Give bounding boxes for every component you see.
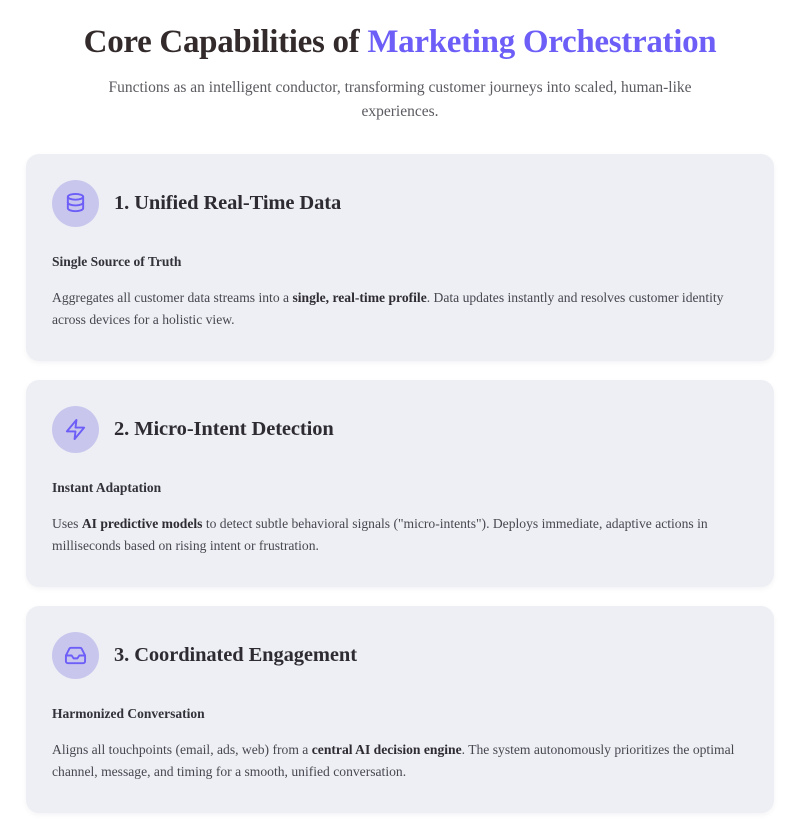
card-description: Aggregates all customer data streams int… [52,287,748,331]
card-subheading: Single Source of Truth [52,254,748,270]
page-header: Core Capabilities of Marketing Orchestra… [0,0,800,124]
page-subtitle: Functions as an intelligent conductor, t… [80,76,720,124]
card-description-part1: Aligns all touchpoints (email, ads, web)… [52,742,312,757]
card-description-part1: Uses [52,516,82,531]
card-description: Aligns all touchpoints (email, ads, web)… [52,739,748,783]
capability-card[interactable]: 1. Unified Real-Time Data Single Source … [26,154,774,361]
card-header: 1. Unified Real-Time Data [52,180,748,227]
card-description-emphasis: AI predictive models [82,516,203,531]
page-title: Core Capabilities of Marketing Orchestra… [30,22,770,62]
card-title: 3. Coordinated Engagement [114,644,357,667]
capability-card[interactable]: 2. Micro-Intent Detection Instant Adapta… [26,380,774,587]
card-header: 2. Micro-Intent Detection [52,406,748,453]
card-subheading: Harmonized Conversation [52,706,748,722]
inbox-tray-icon [52,632,99,679]
card-description-emphasis: central AI decision engine [312,742,462,757]
page-title-accent: Marketing Orchestration [367,24,716,60]
card-title: 1. Unified Real-Time Data [114,192,341,215]
card-header: 3. Coordinated Engagement [52,632,748,679]
page-title-lead: Core Capabilities of [84,24,368,60]
card-title: 2. Micro-Intent Detection [114,418,334,441]
database-stack-icon [52,180,99,227]
capability-card[interactable]: 3. Coordinated Engagement Harmonized Con… [26,606,774,813]
card-description-part1: Aggregates all customer data streams int… [52,290,292,305]
card-description-emphasis: single, real-time profile [292,290,426,305]
capability-card-list: 1. Unified Real-Time Data Single Source … [0,154,800,813]
zap-icon [52,406,99,453]
page-root: Core Capabilities of Marketing Orchestra… [0,0,800,830]
card-subheading: Instant Adaptation [52,480,748,496]
card-description: Uses AI predictive models to detect subt… [52,513,748,557]
